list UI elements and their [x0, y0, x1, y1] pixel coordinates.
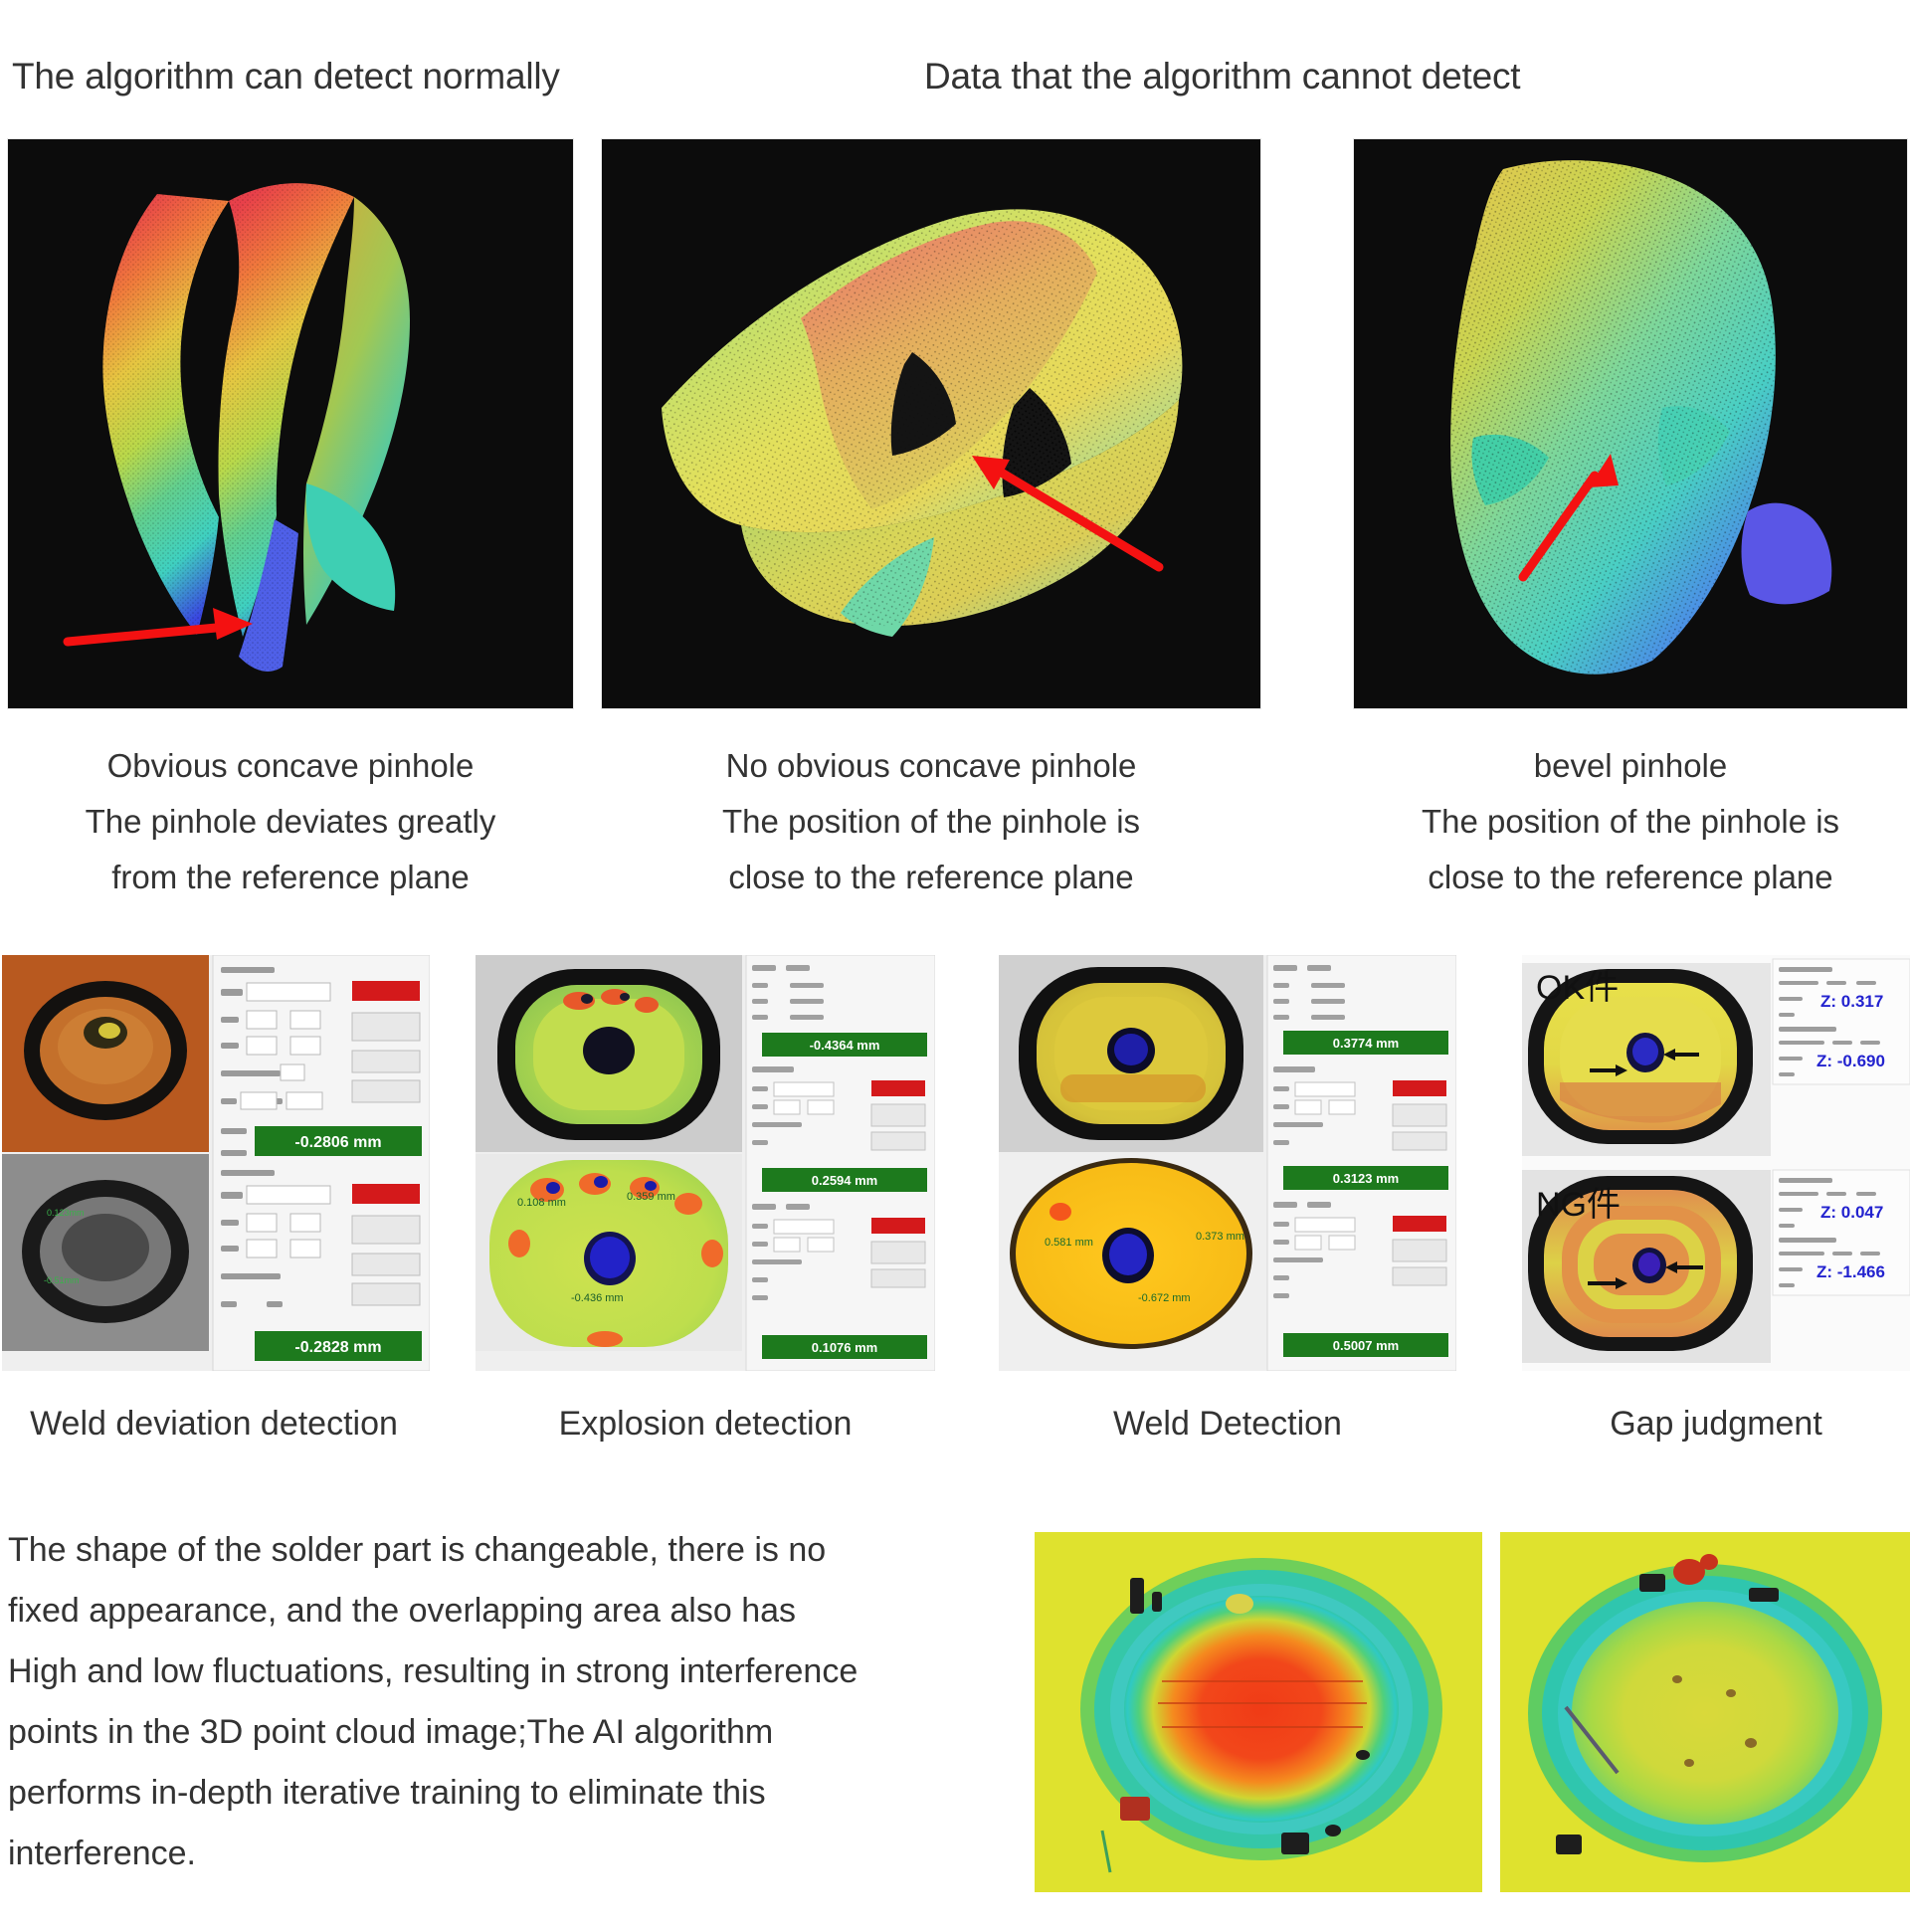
pointcloud-panel-bevel-pinhole	[1354, 139, 1907, 708]
overlay-label: -0.436 mm	[571, 1292, 624, 1304]
overlay-label: 0.108 mm	[517, 1197, 566, 1209]
caption-line: The position of the pinhole is	[1354, 794, 1907, 850]
heightmap-right	[1500, 1532, 1910, 1892]
description-paragraph: The shape of the solder part is changeab…	[8, 1520, 1013, 1884]
caption-line: bevel pinhole	[1354, 738, 1907, 794]
thumbnail-caption-gap-judgment: Gap judgment	[1522, 1405, 1910, 1444]
paragraph-line: The shape of the solder part is changeab…	[8, 1520, 1013, 1581]
caption-line: from the reference plane	[8, 850, 573, 905]
ok-mark-label: OK件	[1536, 969, 1619, 1007]
pointcloud-panel-obvious-concave-pinhole	[8, 139, 573, 708]
paragraph-line: performs in-depth iterative training to …	[8, 1763, 1013, 1824]
caption-line: Obvious concave pinhole	[8, 738, 573, 794]
overlay-label: -0.672 mm	[1138, 1292, 1191, 1304]
pointcloud-caption-1: Obvious concave pinhole The pinhole devi…	[8, 738, 573, 905]
pointcloud-caption-3: bevel pinhole The position of the pinhol…	[1354, 738, 1907, 905]
pointcloud-caption-2: No obvious concave pinhole The position …	[602, 738, 1260, 905]
thumbnail-caption-weld-detection: Weld Detection	[999, 1405, 1456, 1444]
header-right: Data that the algorithm cannot detect	[924, 56, 1520, 97]
ng-mark-label: NG件	[1536, 1186, 1621, 1224]
z-value: Z: 0.317	[1820, 992, 1883, 1011]
overlay-label: 0.373 mm	[1196, 1231, 1244, 1243]
svg-text:0.123mm: 0.123mm	[47, 1208, 85, 1218]
readout-value: -0.2806 mm	[294, 1134, 381, 1151]
paragraph-line: interference.	[8, 1824, 1013, 1884]
thumbnail-explosion-detection: 0.108 mm 0.359 mm -0.436 mm -0.4364 mm	[476, 955, 935, 1371]
caption-line: The position of the pinhole is	[602, 794, 1260, 850]
readout-value: 0.1076 mm	[812, 1340, 878, 1355]
pointcloud-panel-no-obvious-concave-pinhole	[602, 139, 1260, 708]
z-value: Z: -0.690	[1816, 1052, 1885, 1070]
thumbnail-weld-deviation-detection: 0.123mm -0.51mm -0.2806 m	[2, 955, 430, 1371]
svg-text:-0.51mm: -0.51mm	[44, 1275, 80, 1285]
readout-value: 0.5007 mm	[1333, 1338, 1400, 1353]
thumbnail-caption-weld-deviation-detection: Weld deviation detection	[0, 1405, 428, 1444]
z-value: Z: 0.047	[1820, 1203, 1883, 1222]
thumbnail-gap-judgment: OK件 Z: 0.317 Z: -0.690	[1522, 955, 1910, 1371]
readout-value: -0.2828 mm	[294, 1339, 381, 1356]
header-left: The algorithm can detect normally	[12, 56, 560, 97]
readout-value: 0.2594 mm	[812, 1173, 878, 1188]
paragraph-line: points in the 3D point cloud image;The A…	[8, 1702, 1013, 1763]
thumbnail-caption-explosion-detection: Explosion detection	[476, 1405, 935, 1444]
caption-line: close to the reference plane	[602, 850, 1260, 905]
heightmap-left	[1035, 1532, 1482, 1892]
caption-line: No obvious concave pinhole	[602, 738, 1260, 794]
overlay-label: 0.581 mm	[1045, 1237, 1093, 1249]
caption-line: close to the reference plane	[1354, 850, 1907, 905]
caption-line: The pinhole deviates greatly	[8, 794, 573, 850]
readout-value: 0.3123 mm	[1333, 1171, 1400, 1186]
readout-value: 0.3774 mm	[1333, 1036, 1400, 1051]
overlay-label: 0.359 mm	[627, 1191, 675, 1203]
readout-value: -0.4364 mm	[810, 1038, 880, 1053]
thumbnail-weld-detection: 0.581 mm 0.373 mm -0.672 mm 0.3774 mm	[999, 955, 1456, 1371]
z-value: Z: -1.466	[1816, 1262, 1885, 1281]
paragraph-line: fixed appearance, and the overlapping ar…	[8, 1581, 1013, 1642]
paragraph-line: High and low fluctuations, resulting in …	[8, 1642, 1013, 1702]
